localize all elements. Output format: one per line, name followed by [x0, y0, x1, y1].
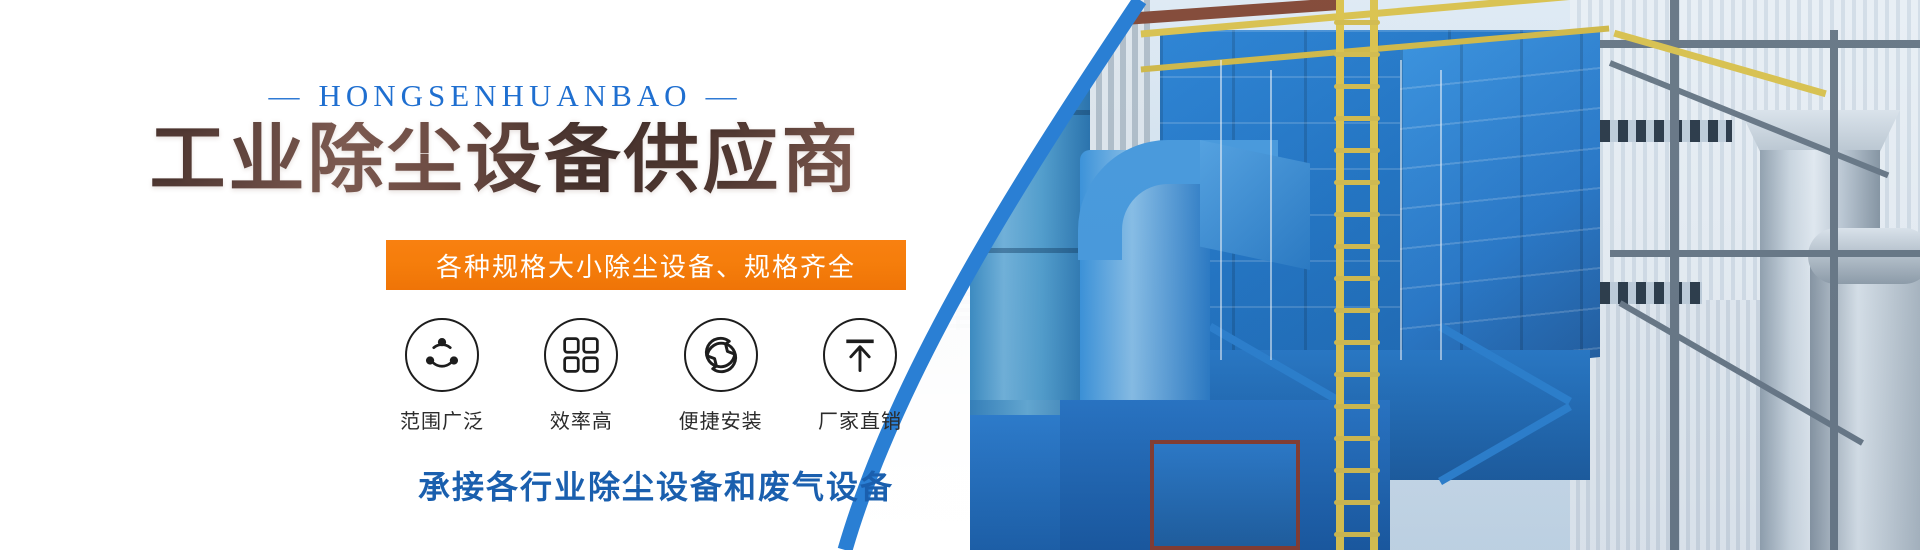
- photo-tone-overlay: [970, 0, 1920, 550]
- feature-item-easy-install[interactable]: 便捷安装: [665, 318, 777, 434]
- feature-label: 便捷安装: [679, 405, 763, 434]
- feature-label: 效率高: [550, 405, 613, 434]
- share-network-icon: [405, 318, 479, 392]
- tagline: 承接各行业除尘设备和废气设备: [386, 462, 926, 508]
- grid-squares-icon: [544, 318, 618, 392]
- feature-item-wide-range[interactable]: 范围广泛: [386, 318, 498, 434]
- eyebrow-dash-left: —: [268, 78, 304, 114]
- arrow-up-bar-icon: [823, 318, 897, 392]
- feature-label: 厂家直销: [818, 405, 902, 434]
- subtitle-text: 各种规格大小除尘设备、规格齐全: [436, 247, 856, 284]
- hero-content: —HONGSENHUANBAO— 工业除尘设备供应商 各种规格大小除尘设备、规格…: [0, 0, 1010, 550]
- eyebrow-dash-right: —: [706, 78, 742, 114]
- wrench-icon: [684, 318, 758, 392]
- brand-eyebrow: —HONGSENHUANBAO—: [0, 78, 1010, 114]
- feature-item-direct-factory[interactable]: 厂家直销: [804, 318, 916, 434]
- subtitle-orange-bar: 各种规格大小除尘设备、规格齐全: [386, 240, 906, 290]
- eyebrow-text: HONGSENHUANBAO: [318, 78, 691, 113]
- equipment-photo: [970, 0, 1920, 550]
- feature-item-high-efficiency[interactable]: 效率高: [525, 318, 637, 434]
- page-title: 工业除尘设备供应商: [0, 122, 1010, 198]
- hero-banner: —HONGSENHUANBAO— 工业除尘设备供应商 各种规格大小除尘设备、规格…: [0, 0, 1920, 550]
- feature-label: 范围广泛: [400, 405, 484, 434]
- feature-list: 范围广泛 效率高: [386, 318, 916, 434]
